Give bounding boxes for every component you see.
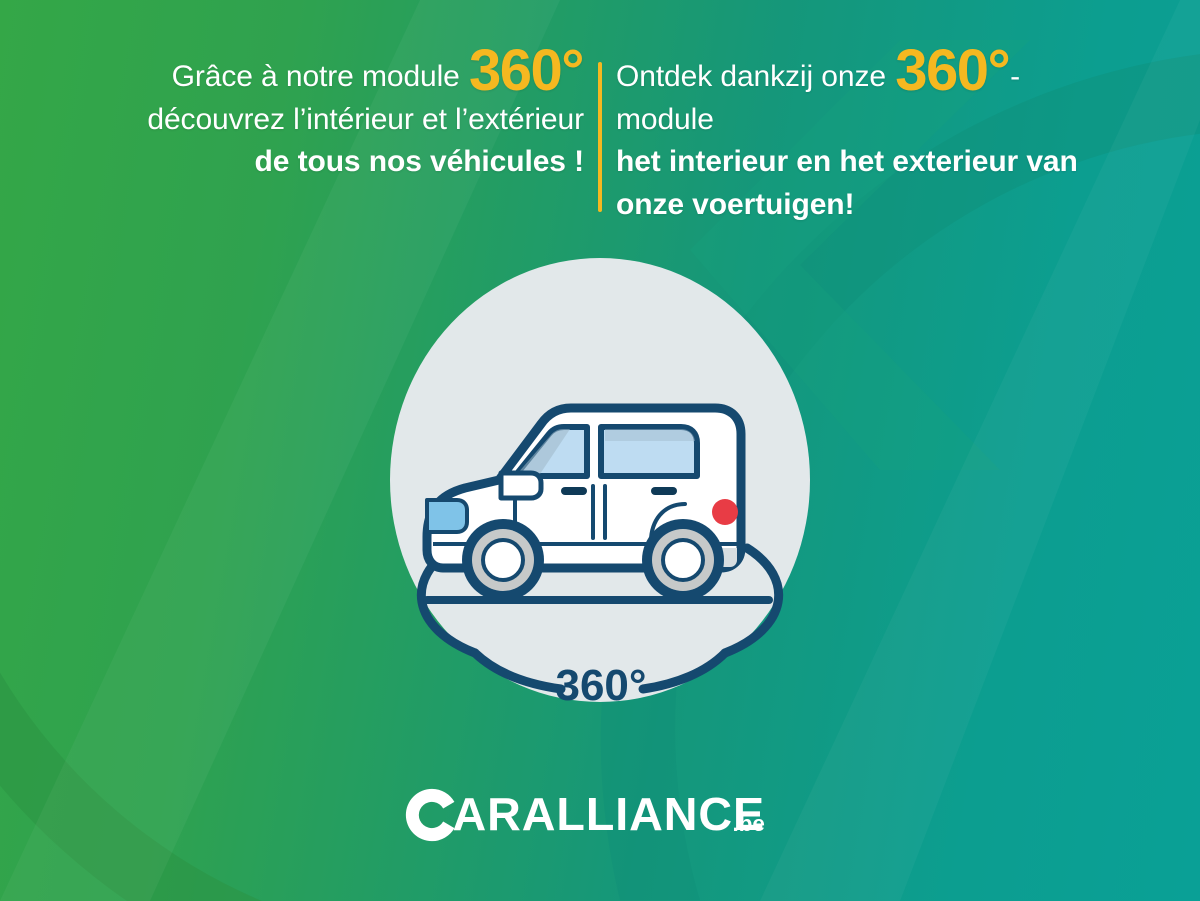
rear-door-handle xyxy=(651,487,677,495)
rear-wheel-icon xyxy=(642,519,724,601)
dutch-line-1-text: Ontdek dankzij onze xyxy=(616,60,886,93)
french-line-1-text: Grâce à notre module xyxy=(172,60,460,93)
front-door-handle xyxy=(561,487,587,495)
french-line-3: de tous nos véhicules ! xyxy=(92,141,584,184)
french-copy-block: Grâce à notre module 360° découvrez l’in… xyxy=(78,48,598,184)
french-line-1: Grâce à notre module 360° xyxy=(92,48,584,99)
dutch-line-3: onze voertuigen! xyxy=(616,184,1108,227)
french-line-2-bold: l’intérieur et l’extérieur xyxy=(293,103,584,136)
dutch-copy-block: Ontdek dankzij onze 360°-module het inte… xyxy=(602,48,1122,226)
orbit-360-label: 360° xyxy=(555,661,646,710)
logo-tld: .be xyxy=(733,811,765,836)
headlight-icon xyxy=(427,500,467,532)
front-wheel-icon xyxy=(462,519,544,601)
french-line-2: découvrez l’intérieur et l’extérieur xyxy=(92,99,584,142)
side-mirror-icon xyxy=(501,473,541,498)
taillight-icon xyxy=(712,499,738,525)
french-line-2-light: découvrez xyxy=(147,103,285,136)
caralliance-logo[interactable]: ARALLIANCE .be xyxy=(0,787,1200,843)
dutch-line-1: Ontdek dankzij onze 360°-module xyxy=(616,48,1108,141)
headline-row: Grâce à notre module 360° découvrez l’in… xyxy=(0,48,1200,226)
caralliance-c-ring-icon xyxy=(406,789,455,841)
vehicle-illustration: 360° xyxy=(365,248,835,718)
promo-banner: Grâce à notre module 360° découvrez l’in… xyxy=(0,0,1200,901)
logo-wordmark: ARALLIANCE xyxy=(453,788,766,840)
rear-window-shade xyxy=(605,429,695,441)
french-360-badge: 360° xyxy=(469,38,583,103)
dutch-line-2: het interieur en het exterieur van xyxy=(616,141,1108,184)
dutch-360-badge: 360° xyxy=(895,38,1009,103)
